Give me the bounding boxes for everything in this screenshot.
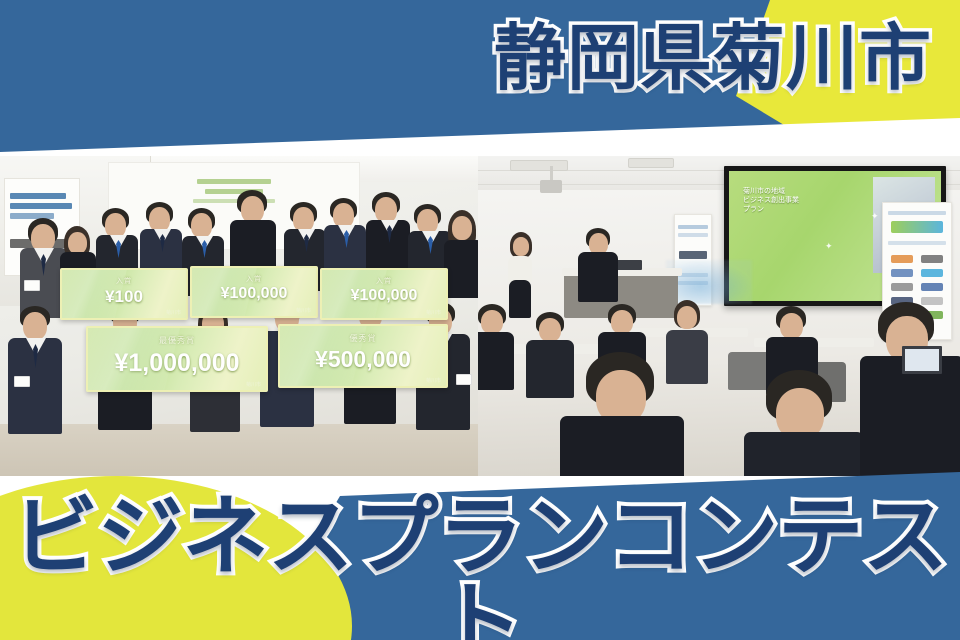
check-amount: ¥100 [62, 287, 186, 307]
wall-artwork [666, 260, 752, 304]
slide-marker-2: ✦ [825, 241, 833, 252]
check-footer: 菊川市 [426, 309, 441, 316]
check-footer: 菊川市 [426, 377, 441, 384]
check-footer: 菊川市 [166, 309, 181, 316]
slide-title: 菊川市の地域 ビジネス創出事業 プラン [743, 187, 799, 214]
prize-check-second-prize: 優秀賞 ¥500,000 菊川市 [278, 324, 448, 388]
check-amount: ¥100,000 [192, 285, 316, 303]
poster-canvas: 入賞 ¥100 菊川市 入賞 ¥100,000 菊川市 入賞 ¥100,000 … [0, 0, 960, 640]
prize-check-small-3: 入賞 ¥100,000 菊川市 [320, 268, 448, 320]
ceiling-vent [628, 158, 674, 168]
check-label: 入賞 [322, 276, 446, 286]
check-amount: ¥1,000,000 [88, 349, 266, 378]
room-floor [0, 424, 478, 476]
check-label: 入賞 [192, 274, 316, 284]
projector [540, 180, 562, 193]
check-label: 入賞 [62, 276, 186, 286]
ceiling-vent [510, 160, 568, 171]
check-label: 優秀賞 [280, 333, 446, 344]
prize-check-small-2: 入賞 ¥100,000 菊川市 [190, 266, 318, 318]
check-footer: 菊川市 [246, 381, 261, 388]
projector-mount [550, 166, 553, 181]
check-amount: ¥500,000 [280, 346, 446, 373]
prize-check-small-1: 入賞 ¥100 菊川市 [60, 268, 188, 320]
photo-seminar-room: 菊川市の地域 ビジネス創出事業 プラン ✦ ✦ 菊川市 [478, 156, 960, 476]
check-footer: 菊川市 [296, 307, 311, 314]
headline-city-name: 静岡県菊川市 [0, 22, 960, 94]
check-label: 最優秀賞 [88, 335, 266, 346]
prize-check-grand-prize: 最優秀賞 ¥1,000,000 菊川市 [86, 326, 268, 392]
slide-marker-1: ✦ [871, 211, 879, 222]
check-amount: ¥100,000 [322, 287, 446, 305]
audience-laptop [902, 346, 942, 374]
photo-strip: 入賞 ¥100 菊川市 入賞 ¥100,000 菊川市 入賞 ¥100,000 … [0, 156, 960, 476]
photo-award-ceremony: 入賞 ¥100 菊川市 入賞 ¥100,000 菊川市 入賞 ¥100,000 … [0, 156, 478, 476]
headline-contest-title: ビジネスプランコンテスト [0, 494, 960, 640]
